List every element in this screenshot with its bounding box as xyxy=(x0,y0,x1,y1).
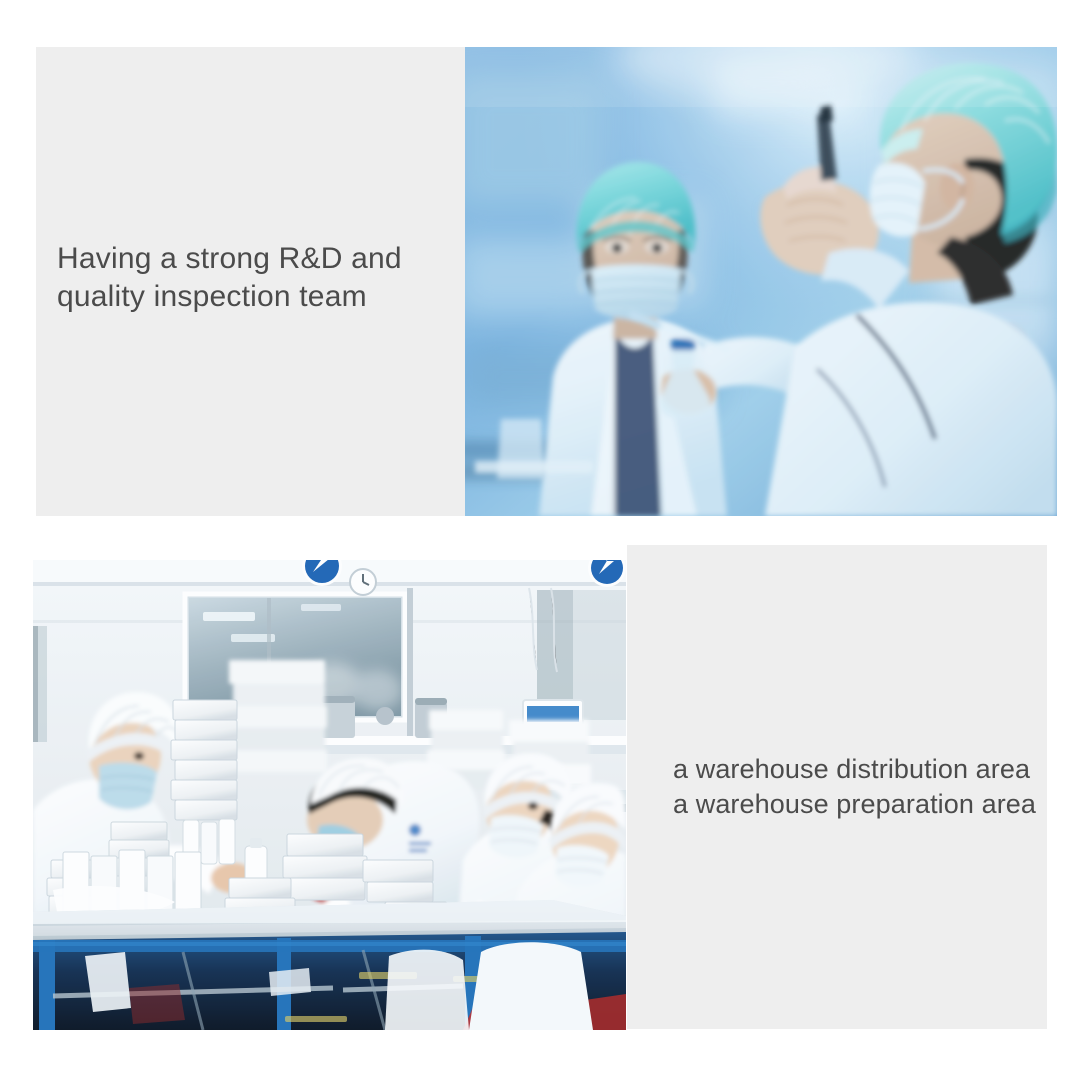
caption-line: quality inspection team xyxy=(57,278,457,316)
warehouse-packing-photo xyxy=(33,560,626,1030)
caption-line: a warehouse preparation area xyxy=(673,787,1080,822)
warehouse-photo-svg xyxy=(33,560,626,1030)
laboratory-photo-svg xyxy=(465,47,1057,516)
slide-canvas: Having a strong R&D and quality inspecti… xyxy=(0,0,1080,1080)
section-warehouse: a warehouse distribution area a warehous… xyxy=(33,545,1047,1030)
caption-panel-top: Having a strong R&D and quality inspecti… xyxy=(36,47,466,516)
section-rnd-quality: Having a strong R&D and quality inspecti… xyxy=(36,47,1057,516)
warehouse-caption: a warehouse distribution area a warehous… xyxy=(673,752,1080,822)
caption-line: Having a strong R&D and xyxy=(57,240,457,278)
caption-panel-bottom: a warehouse distribution area a warehous… xyxy=(627,545,1047,1029)
caption-line: a warehouse distribution area xyxy=(673,752,1080,787)
laboratory-technicians-photo xyxy=(465,47,1057,516)
page-title: Having a strong R&D and quality inspecti… xyxy=(57,240,457,316)
